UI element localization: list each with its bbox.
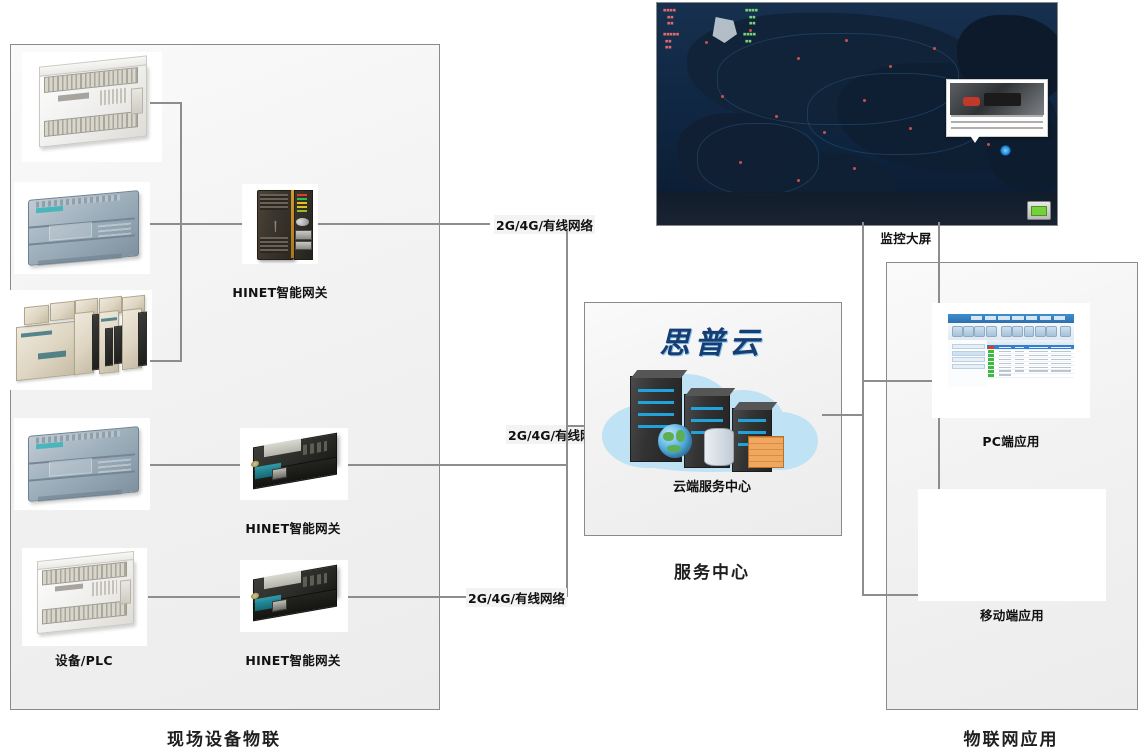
- wall-status-badge: [1027, 201, 1051, 220]
- cloud-service-graphic: 思普云 云端服: [596, 318, 828, 498]
- wire-mitsubishi-top: [150, 102, 182, 104]
- network-label-top: 2G/4G/有线网络: [494, 215, 595, 234]
- gateway-hinet-din: [242, 184, 318, 264]
- trunk-mid-horizontal: [348, 464, 566, 466]
- zone-service-center-caption: 服务中心: [584, 558, 840, 583]
- gateway-box-bottom-caption: HINET智能网关: [228, 650, 358, 669]
- trunk-vertical-bottom: [566, 425, 568, 597]
- wire-bracket-vertical: [180, 102, 182, 362]
- wall-hud-panel: ■■■■ ■■ ■■ ■■■■ ■■ ■■ ■■■■■ ■■ ■■ ■■■■ ■…: [663, 8, 793, 53]
- gateway-hinet-box-bottom: [240, 560, 348, 632]
- wire-app-bus-vertical: [862, 222, 864, 596]
- trunk-mid-to-cloud: [566, 425, 586, 427]
- wall-device-pin: [1000, 145, 1011, 156]
- device-mitsubishi-plc-bottom: [22, 548, 147, 646]
- app-monitor-wall-caption: 监控大屏: [806, 228, 1006, 247]
- zone-field-caption: 现场设备物联: [10, 725, 438, 750]
- app-mobile-caption: 移动端应用: [918, 605, 1106, 624]
- cloud-logo-text: 思普云: [596, 318, 828, 362]
- network-label-bottom: 2G/4G/有线网络: [466, 588, 567, 607]
- app-monitor-wall: ■■■■ ■■ ■■ ■■■■ ■■ ■■ ■■■■■ ■■ ■■ ■■■■ ■…: [656, 2, 1058, 226]
- gateway-din-caption: HINET智能网关: [215, 282, 345, 301]
- wall-device-callout: [946, 79, 1048, 137]
- app-pc-caption: PC端应用: [932, 431, 1090, 450]
- database-icon: [704, 428, 734, 466]
- diagram-canvas: 设备/PLC HINET智能网关: [0, 0, 1143, 752]
- wire-siemens-upper: [150, 223, 182, 225]
- globe-icon: [658, 424, 692, 458]
- wire-mitsubishi-bottom-to-gateway: [148, 596, 242, 598]
- gateway-box-mid-caption: HINET智能网关: [228, 518, 358, 537]
- device-siemens-plc-lower: [14, 418, 150, 510]
- wire-siemens-lower-to-gateway: [150, 464, 242, 466]
- trunk-vertical-top: [566, 231, 568, 425]
- wire-rack-plc: [150, 360, 182, 362]
- cloud-caption: 云端服务中心: [596, 476, 828, 495]
- app-mobile-tablet: [918, 489, 1106, 601]
- gateway-hinet-box-mid: [240, 428, 348, 500]
- app-pc-monitor: [932, 303, 1090, 418]
- wire-bus-to-pc-app: [862, 380, 940, 382]
- trunk-top-horizontal: [318, 223, 490, 225]
- device-siemens-plc-upper: [14, 182, 150, 274]
- wire-cloud-to-app-bus: [822, 414, 864, 416]
- zone-iot-app-caption: 物联网应用: [886, 725, 1136, 750]
- device-plc-caption: 设备/PLC: [14, 650, 154, 669]
- firewall-icon: [748, 436, 784, 468]
- wire-bracket-to-gateway: [180, 223, 242, 225]
- device-modular-rack-plc: [10, 290, 152, 390]
- device-mitsubishi-plc-top: [22, 52, 162, 162]
